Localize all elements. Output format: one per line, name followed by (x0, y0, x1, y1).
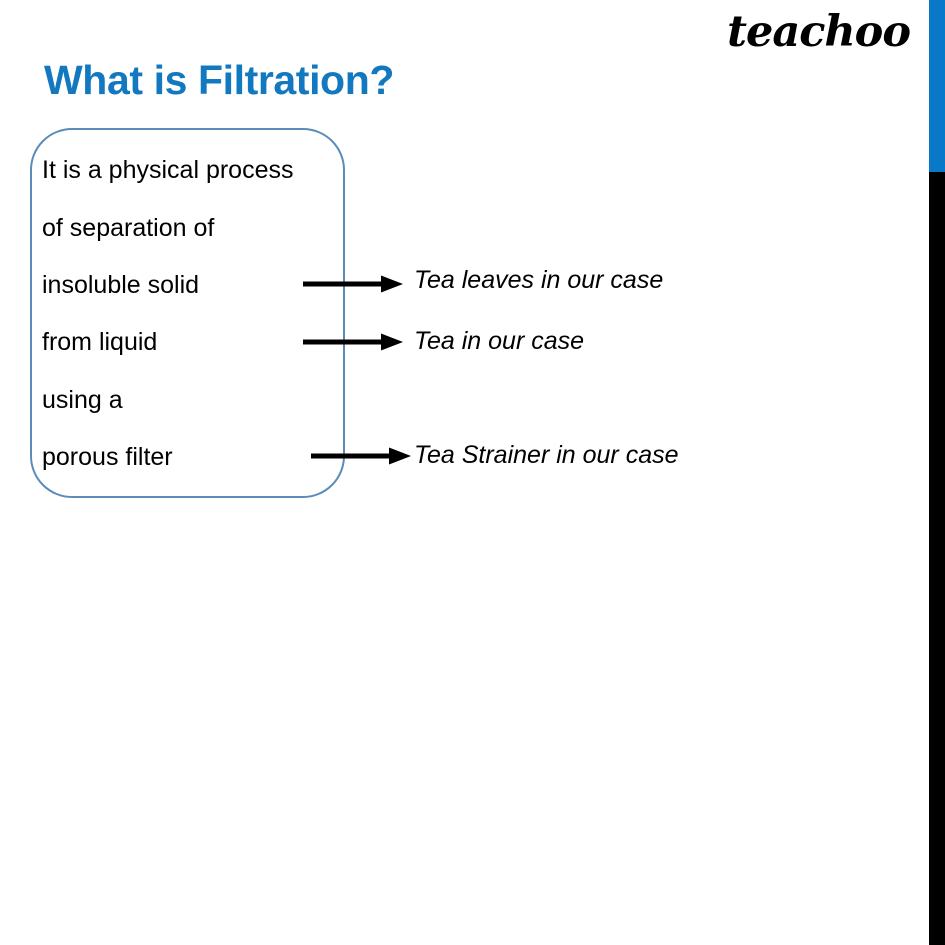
arrow-right-icon (311, 444, 413, 468)
definition-line: using a (42, 388, 123, 413)
result-label: Tea in our case (414, 329, 584, 354)
black-accent-bar (929, 172, 945, 945)
arrow-right-icon (303, 272, 405, 296)
arrow-right-icon (303, 330, 405, 354)
definition-line: from liquid (42, 330, 157, 355)
definition-line: porous filter (42, 445, 173, 470)
result-label: Tea Strainer in our case (414, 443, 679, 468)
teachoo-logo: teachoo (727, 11, 910, 54)
page-title: What is Filtration? (44, 57, 394, 104)
slide-canvas: teachoo What is Filtration? It is a phys… (0, 0, 945, 945)
definition-line: It is a physical process (42, 158, 294, 183)
blue-accent-bar (929, 0, 945, 172)
result-label: Tea leaves in our case (414, 268, 663, 293)
definition-line: insoluble solid (42, 273, 199, 298)
definition-line: of separation of (42, 216, 214, 241)
